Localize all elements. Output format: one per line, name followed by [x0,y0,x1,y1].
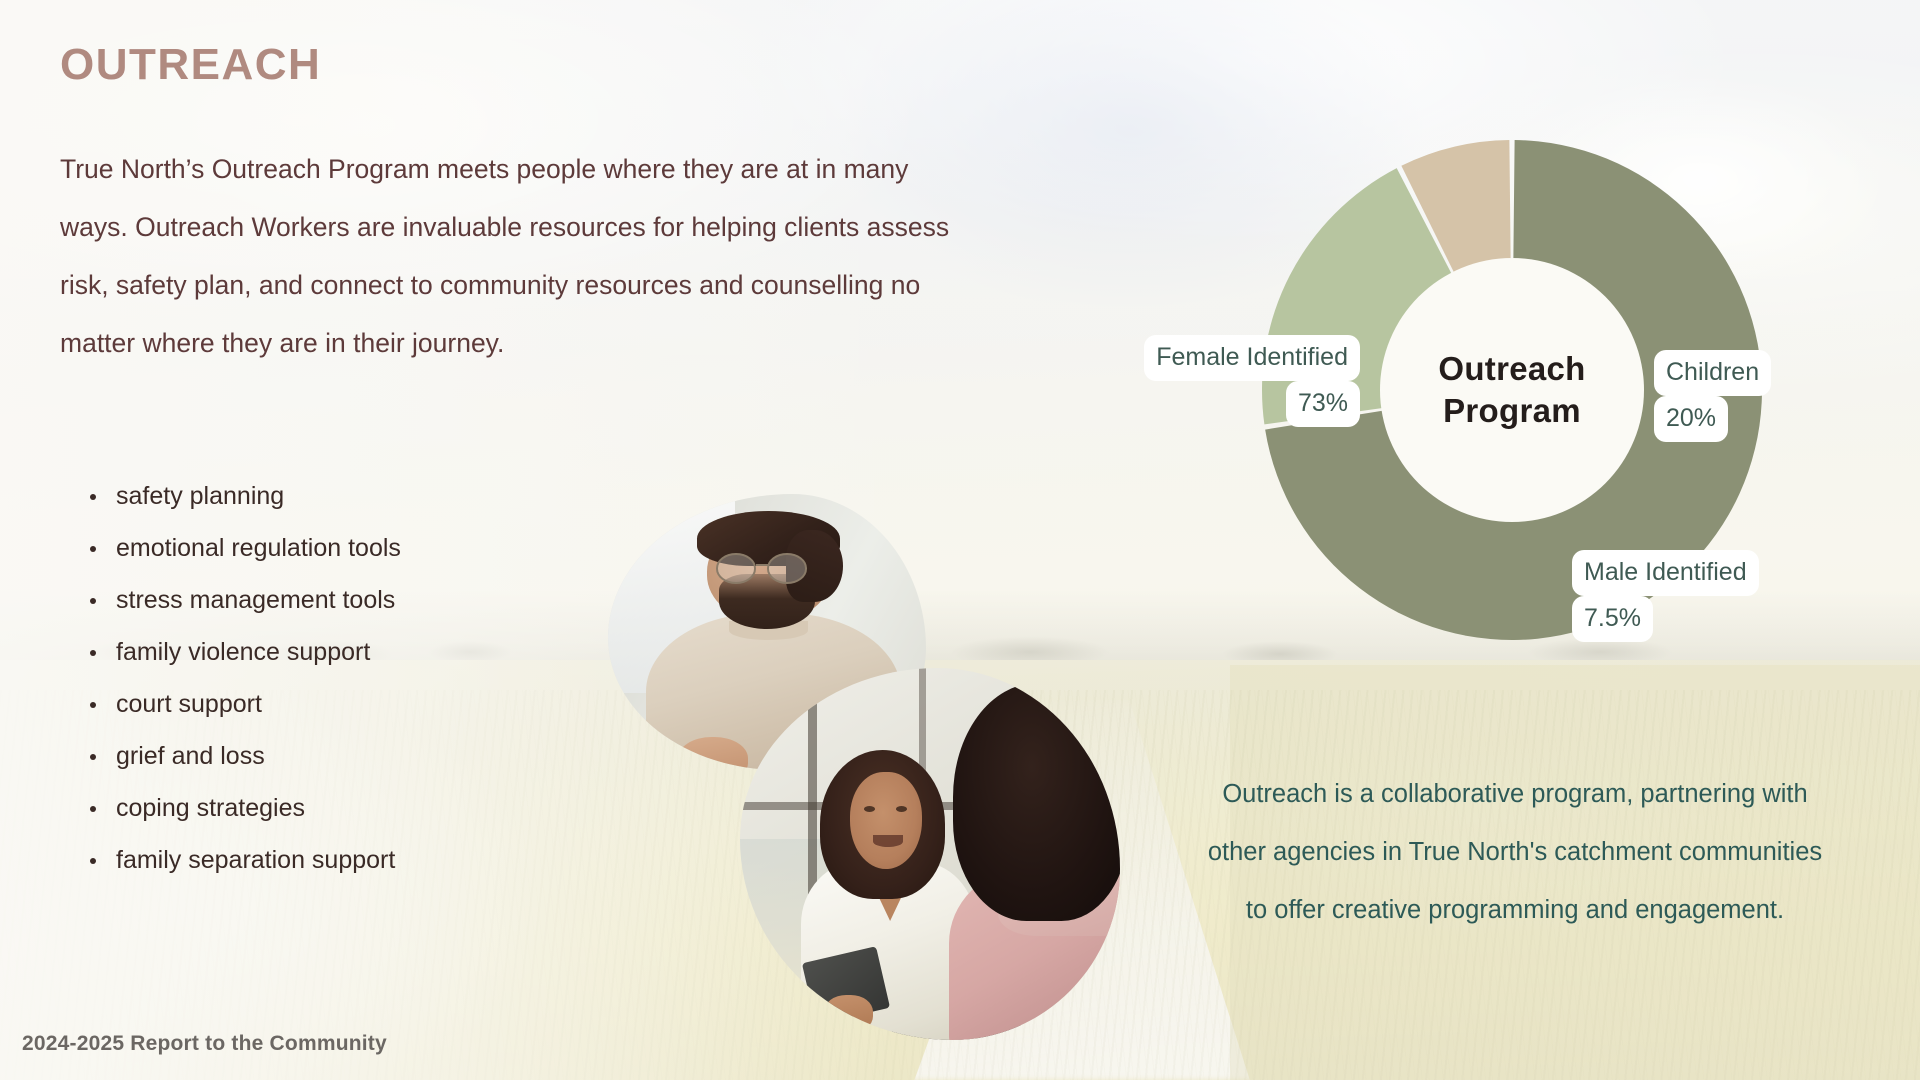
list-item: grief and loss [78,730,638,782]
photo-woman1-face [850,772,922,869]
list-item: emotional regulation tools [78,522,638,574]
footer-report-label: 2024-2025 Report to the Community [22,1032,387,1056]
page-title: OUTREACH [60,40,321,90]
donut-center-line-1: Outreach [1438,348,1585,390]
list-item: safety planning [78,470,638,522]
photo-woman1-smile [873,835,903,846]
donut-center: Outreach Program [1380,258,1644,522]
donut-center-line-2: Program [1438,390,1585,432]
photo-glasses-right-lens [767,553,807,583]
list-item: family separation support [78,834,638,886]
photo-person-hand [678,737,748,770]
services-list: safety planning emotional regulation too… [78,470,638,886]
intro-paragraph: True North’s Outreach Program meets peop… [60,140,960,372]
donut-center-label: Outreach Program [1438,348,1585,432]
photo-woman1-eye-right [896,806,907,812]
photo-woman1-hand [824,995,873,1032]
photo-woman1-eye-left [864,806,875,812]
collaboration-paragraph: Outreach is a collaborative program, par… [1195,765,1835,939]
photo-conversation [740,668,1120,1040]
list-item: court support [78,678,638,730]
outreach-donut-chart: Outreach Program Female Identified 73% C… [1262,140,1762,640]
photo-woman2-hair [953,683,1120,921]
list-item: stress management tools [78,574,638,626]
photo-content [740,668,1120,1040]
photo-glasses-left-lens [716,553,756,583]
list-item: coping strategies [78,782,638,834]
list-item: family violence support [78,626,638,678]
photo-glasses-bridge [756,564,769,566]
